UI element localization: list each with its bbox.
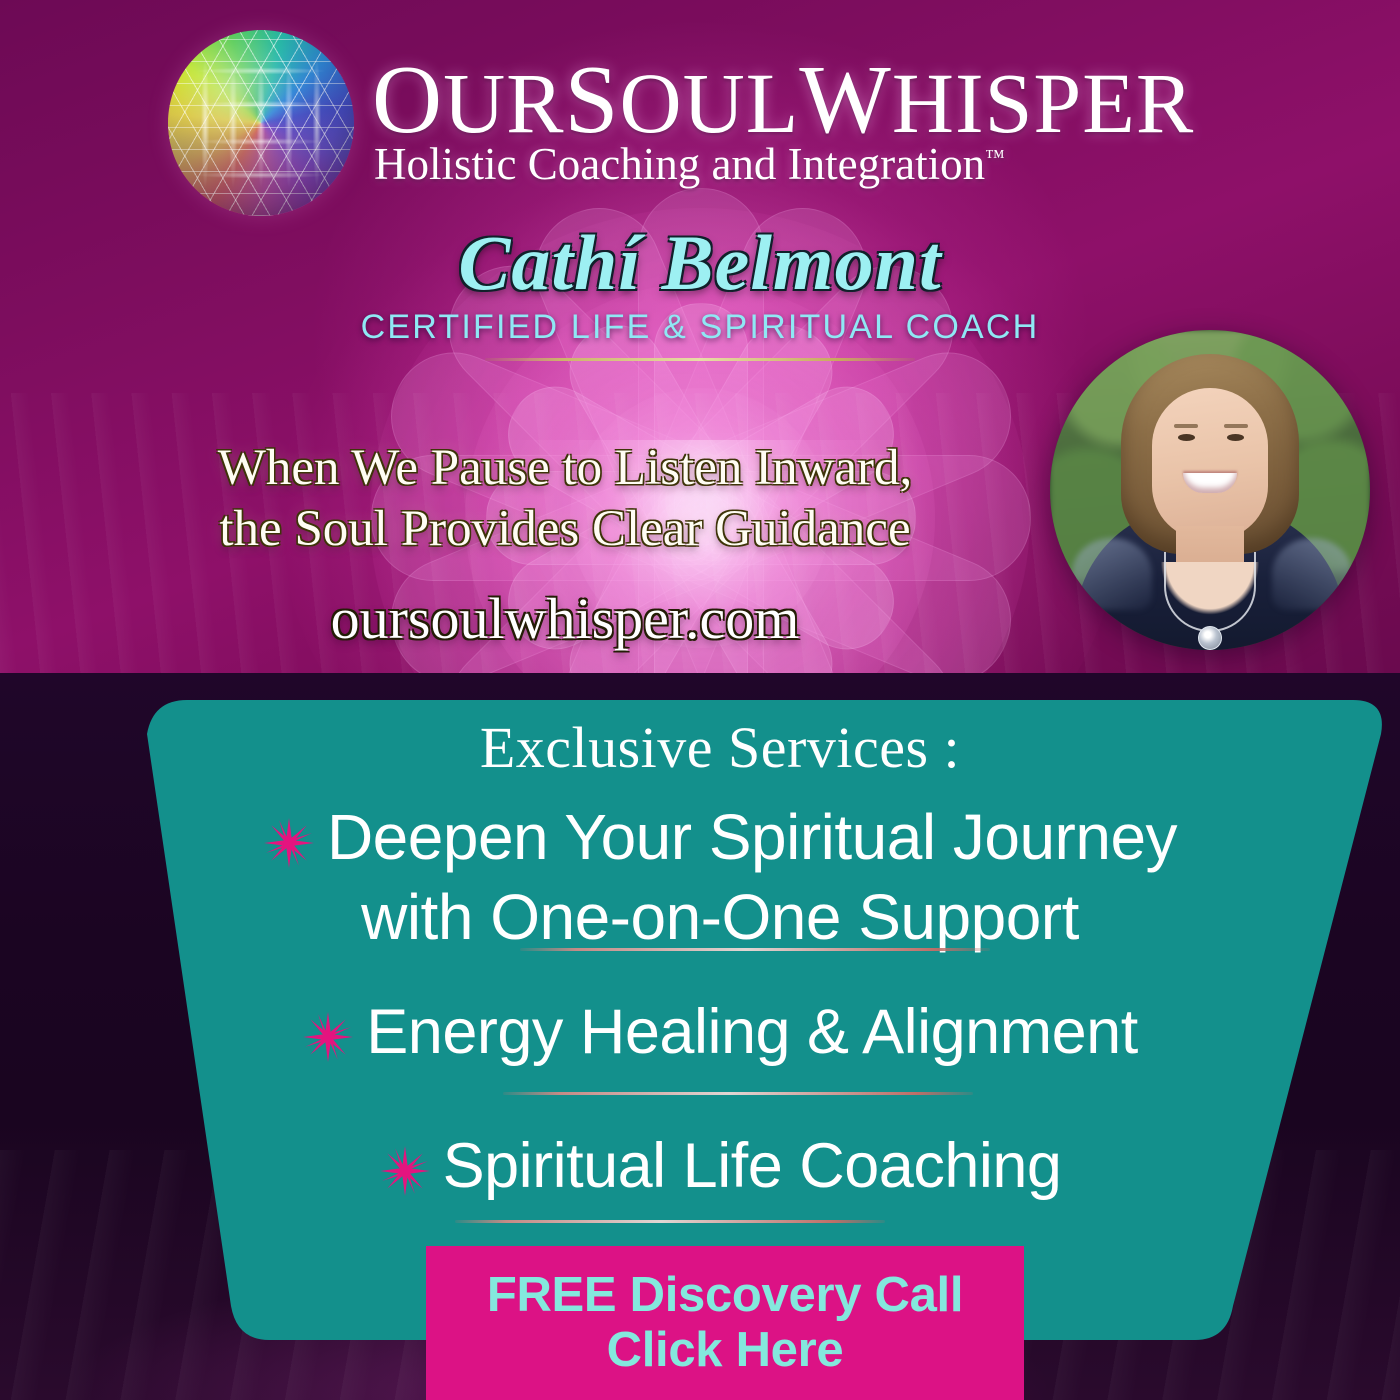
- coach-portrait-avatar: [1050, 330, 1370, 650]
- starburst-icon: [263, 812, 315, 882]
- services-panel: Exclusive Services :: [55, 700, 1385, 1340]
- header-banner: OURSOULWHISPER Holistic Coaching and Int…: [0, 0, 1400, 673]
- free-discovery-call-button[interactable]: FREE Discovery Call Click Here: [426, 1246, 1024, 1400]
- portrait-face: [1152, 388, 1268, 540]
- service-item-2-text: Energy Healing & Alignment: [366, 997, 1137, 1067]
- cta-line-2: Click Here: [607, 1323, 844, 1378]
- gold-divider: [485, 358, 915, 361]
- services-title: Exclusive Services :: [55, 714, 1385, 781]
- service-item-3: Spiritual Life Coaching: [55, 1132, 1385, 1211]
- hero-quote: When We Pause to Listen Inward, the Soul…: [60, 438, 1070, 560]
- trademark-symbol: ™: [985, 146, 1005, 168]
- portrait-brow-left: [1174, 424, 1198, 428]
- service-divider-2: [503, 1092, 973, 1095]
- rainbow-geodesic-sphere-icon: [168, 30, 354, 216]
- promotional-poster: OURSOULWHISPER Holistic Coaching and Int…: [0, 0, 1400, 1400]
- portrait-eye-right: [1227, 434, 1244, 441]
- portrait-eye-left: [1178, 434, 1195, 441]
- coach-name: Cathí Belmont: [0, 218, 1400, 308]
- portrait-necklace-pendant: [1198, 626, 1222, 650]
- brand-tagline-text: Holistic Coaching and Integration: [374, 139, 985, 189]
- service-item-1-line-1: Deepen Your Spiritual Journey: [55, 802, 1385, 882]
- portrait-shoulder-right: [1272, 538, 1352, 610]
- service-item-3-text: Spiritual Life Coaching: [443, 1131, 1062, 1201]
- portrait-brow-right: [1224, 424, 1248, 428]
- website-url[interactable]: oursoulwhisper.com: [60, 585, 1070, 652]
- service-item-1-line-2: with One-on-One Support: [55, 882, 1385, 952]
- portrait-shoulder-left: [1072, 538, 1152, 610]
- starburst-icon: [379, 1142, 431, 1211]
- service-divider-3: [455, 1220, 885, 1223]
- service-item-2: Energy Healing & Alignment: [55, 998, 1385, 1077]
- service-divider-1: [520, 948, 990, 951]
- service-item-1-text-1: Deepen Your Spiritual Journey: [327, 801, 1177, 873]
- hero-quote-line-2: the Soul Provides Clear Guidance: [60, 499, 1070, 560]
- cta-line-1: FREE Discovery Call: [487, 1268, 963, 1323]
- service-item-1: Deepen Your Spiritual Journey with One-o…: [55, 802, 1385, 953]
- hero-quote-line-1: When We Pause to Listen Inward,: [60, 438, 1070, 499]
- starburst-icon: [302, 1008, 354, 1077]
- brand-tagline: Holistic Coaching and Integration™: [374, 138, 1174, 190]
